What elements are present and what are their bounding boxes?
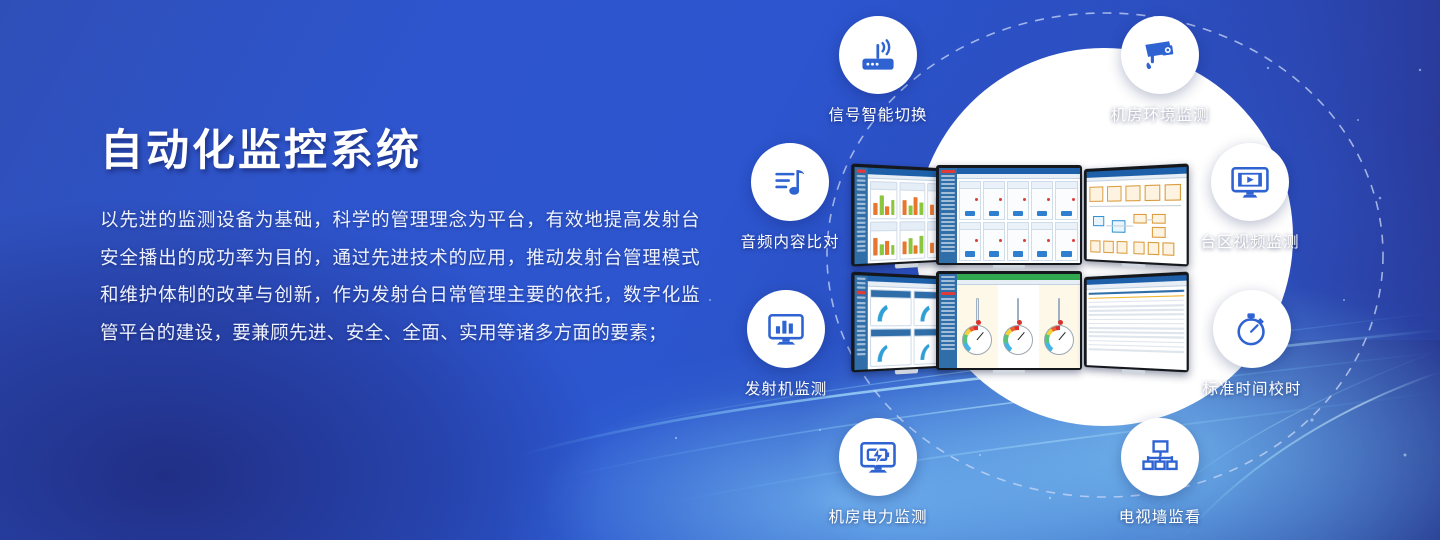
page-title: 自动化监控系统 [100,128,700,175]
monitor-top-center [936,165,1082,265]
cctv-camera-icon [1138,33,1182,77]
feature-icon-wrapper[interactable] [839,418,917,496]
feature-icon-wrapper[interactable] [839,16,917,94]
monitor-top-right [1084,163,1189,266]
feature-label: 台区视频监测 [1180,230,1320,252]
sitemap-icon [1138,435,1182,479]
music-note-icon [768,160,812,204]
feature-icon-wrapper[interactable] [747,290,825,368]
feature-label: 发射机监测 [716,377,856,399]
stopwatch-icon [1230,307,1274,351]
monitor-play-icon [1228,160,1272,204]
feature-audio-compare[interactable]: 音频内容比对 [720,143,860,252]
router-wifi-icon [856,33,900,77]
device-card-columns [957,179,1080,263]
monitor-video-wall [852,165,1192,370]
feature-icon-wrapper[interactable] [751,143,829,221]
feature-icon-wrapper[interactable] [1121,16,1199,94]
feature-power-monitor[interactable]: 机房电力监测 [808,418,948,527]
screen-sidebar [854,274,868,369]
feature-label: 信号智能切换 [808,103,948,125]
feature-label: 机房环境监测 [1090,103,1230,125]
screen-content-device-cards [957,179,1080,263]
feature-room-environment[interactable]: 机房环境监测 [1090,16,1230,125]
screen-content-table [1086,286,1186,370]
hero-description: 以先进的监测设备为基础，科学的管理理念为平台，有效地提高发射台安全播出的成功率为… [100,201,700,351]
hero-banner: 自动化监控系统 以先进的监测设备为基础，科学的管理理念为平台，有效地提高发射台安… [0,0,1440,540]
screen-sidebar [939,168,957,263]
hero-copy: 自动化监控系统 以先进的监测设备为基础，科学的管理理念为平台，有效地提高发射台安… [100,128,700,351]
monitor-bottom-center [936,271,1082,370]
monitor-bar-chart-icon [764,307,808,351]
screen-sidebar [939,274,957,368]
feature-icon-wrapper[interactable] [1121,418,1199,496]
feature-tv-wall[interactable]: 电视墙监看 [1090,418,1230,527]
screen-content-schematic [1086,178,1186,264]
screen-content-gauges [957,285,1080,368]
feature-icon-wrapper[interactable] [1211,143,1289,221]
feature-icon-wrapper[interactable] [1213,290,1291,368]
feature-label: 机房电力监测 [808,505,948,527]
feature-time-sync[interactable]: 标准时间校时 [1182,290,1322,399]
screen-topbar [957,274,1080,281]
feature-label: 音频内容比对 [720,230,860,252]
monitor-power-icon [856,435,900,479]
feature-label: 标准时间校时 [1182,377,1322,399]
screen-topbar [957,168,1080,175]
feature-signal-switch[interactable]: 信号智能切换 [808,16,948,125]
feature-label: 电视墙监看 [1090,505,1230,527]
feature-transmitter-monitor[interactable]: 发射机监测 [716,290,856,399]
monitor-bottom-right [1084,272,1189,373]
feature-area-video[interactable]: 台区视频监测 [1180,143,1320,252]
